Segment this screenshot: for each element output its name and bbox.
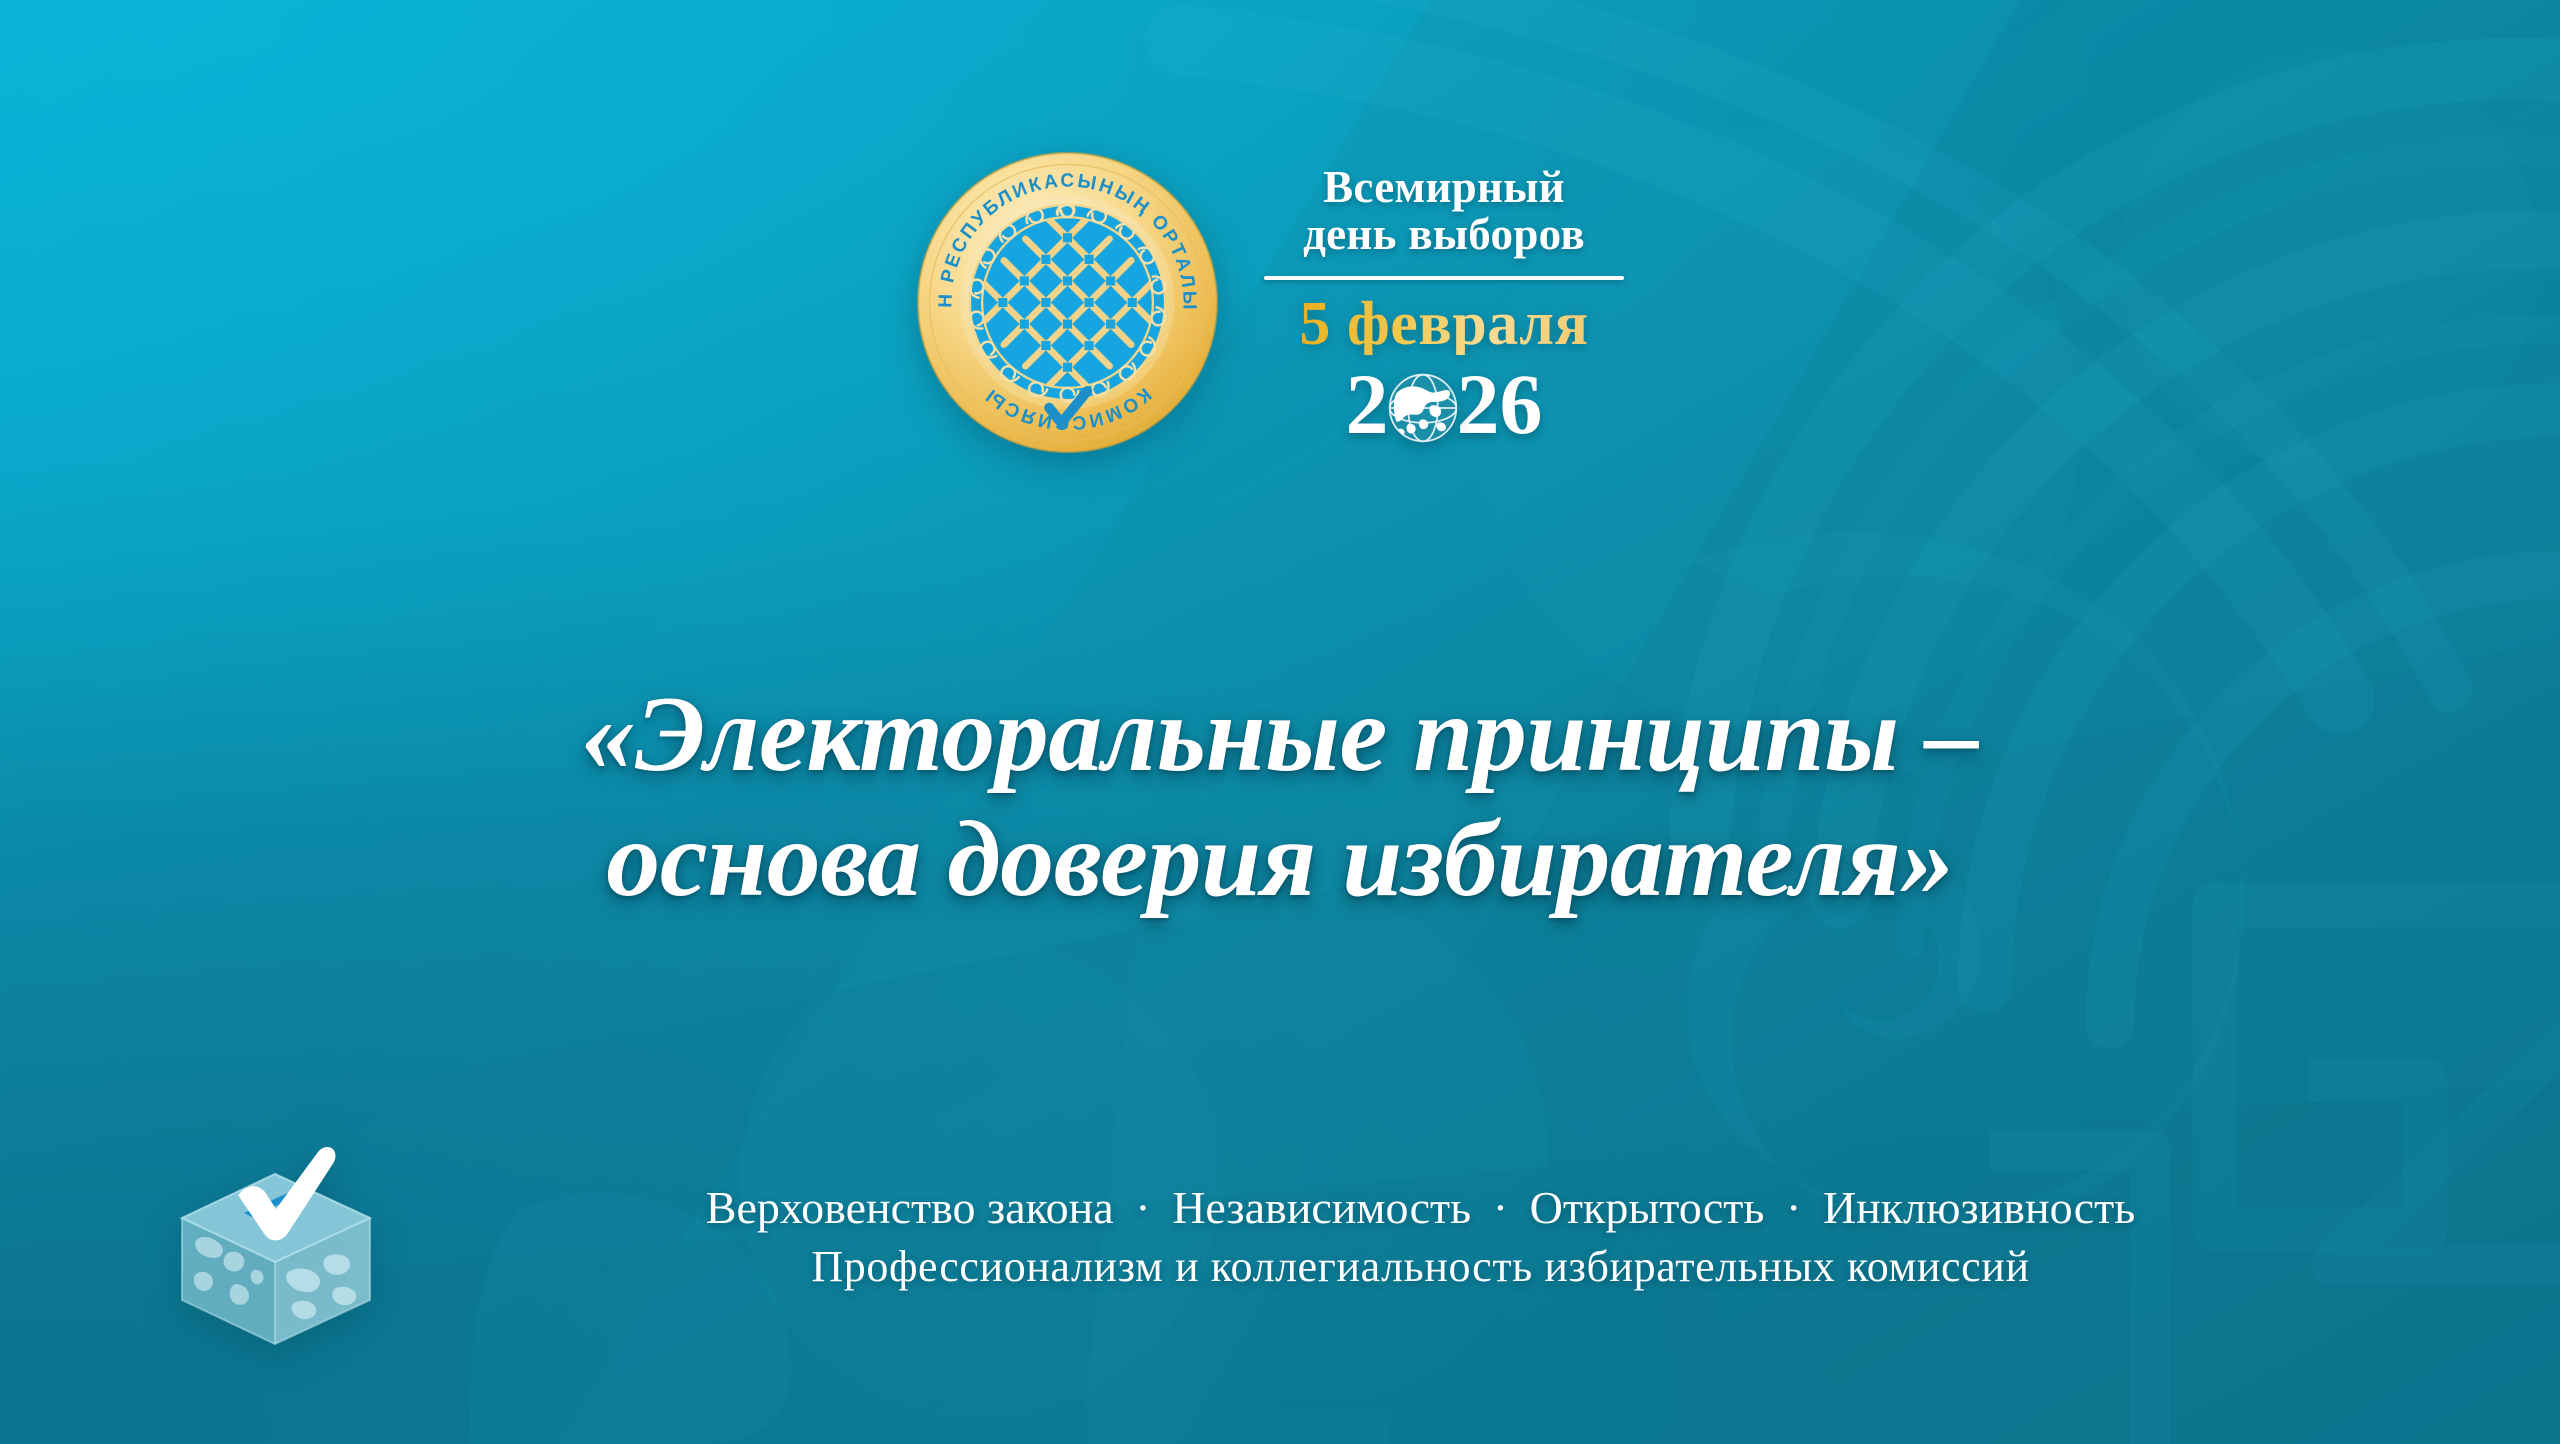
header-text-block: Всемирный день выборов 5 февраля 2	[1264, 150, 1624, 447]
headline-line-1: «Электоральные принципы –	[180, 672, 2380, 797]
year-digit-prefix: 2	[1346, 361, 1389, 447]
footer-block: Верховенство закона · Независимость · От…	[170, 1122, 2420, 1352]
ballot-box-icon	[170, 1122, 385, 1352]
principle-item-1: Независимость	[1172, 1182, 1471, 1233]
principle-item-3: Инклюзивность	[1823, 1182, 2135, 1233]
title-line-1: Всемирный	[1264, 164, 1624, 211]
principle-item-0: Верховенство закона	[706, 1182, 1114, 1233]
header-lockup: ҚАЗАҚСТАН РЕСПУБЛИКАСЫНЫҢ ОРТАЛЫҚ САЙЛАУ…	[915, 150, 1624, 455]
principles-line-2: Профессионализм и коллегиальность избира…	[421, 1238, 2420, 1296]
banner-root: ҚАЗАҚСТАН РЕСПУБЛИКАСЫНЫҢ ОРТАЛЫҚ САЙЛАУ…	[0, 0, 2560, 1444]
principles-line-1: Верховенство закона · Независимость · От…	[421, 1178, 2420, 1239]
cec-emblem-icon: ҚАЗАҚСТАН РЕСПУБЛИКАСЫНЫҢ ОРТАЛЫҚ САЙЛАУ…	[915, 150, 1220, 455]
principle-item-2: Открытость	[1530, 1182, 1765, 1233]
page-title: «Электоральные принципы – основа доверия…	[0, 672, 2560, 923]
principle-separator: ·	[1776, 1182, 1812, 1233]
year-digit-suffix: 26	[1457, 361, 1543, 447]
event-date: 5 февраля	[1264, 293, 1624, 355]
event-year: 2	[1264, 361, 1624, 447]
principle-separator: ·	[1125, 1182, 1161, 1233]
headline-line-2: основа доверия избирателя»	[180, 797, 2380, 922]
globe-icon	[1386, 371, 1460, 445]
header-divider	[1264, 276, 1624, 280]
title-line-2: день выборов	[1264, 211, 1624, 258]
principles-text: Верховенство закона · Независимость · От…	[421, 1178, 2420, 1297]
principle-separator: ·	[1483, 1182, 1519, 1233]
